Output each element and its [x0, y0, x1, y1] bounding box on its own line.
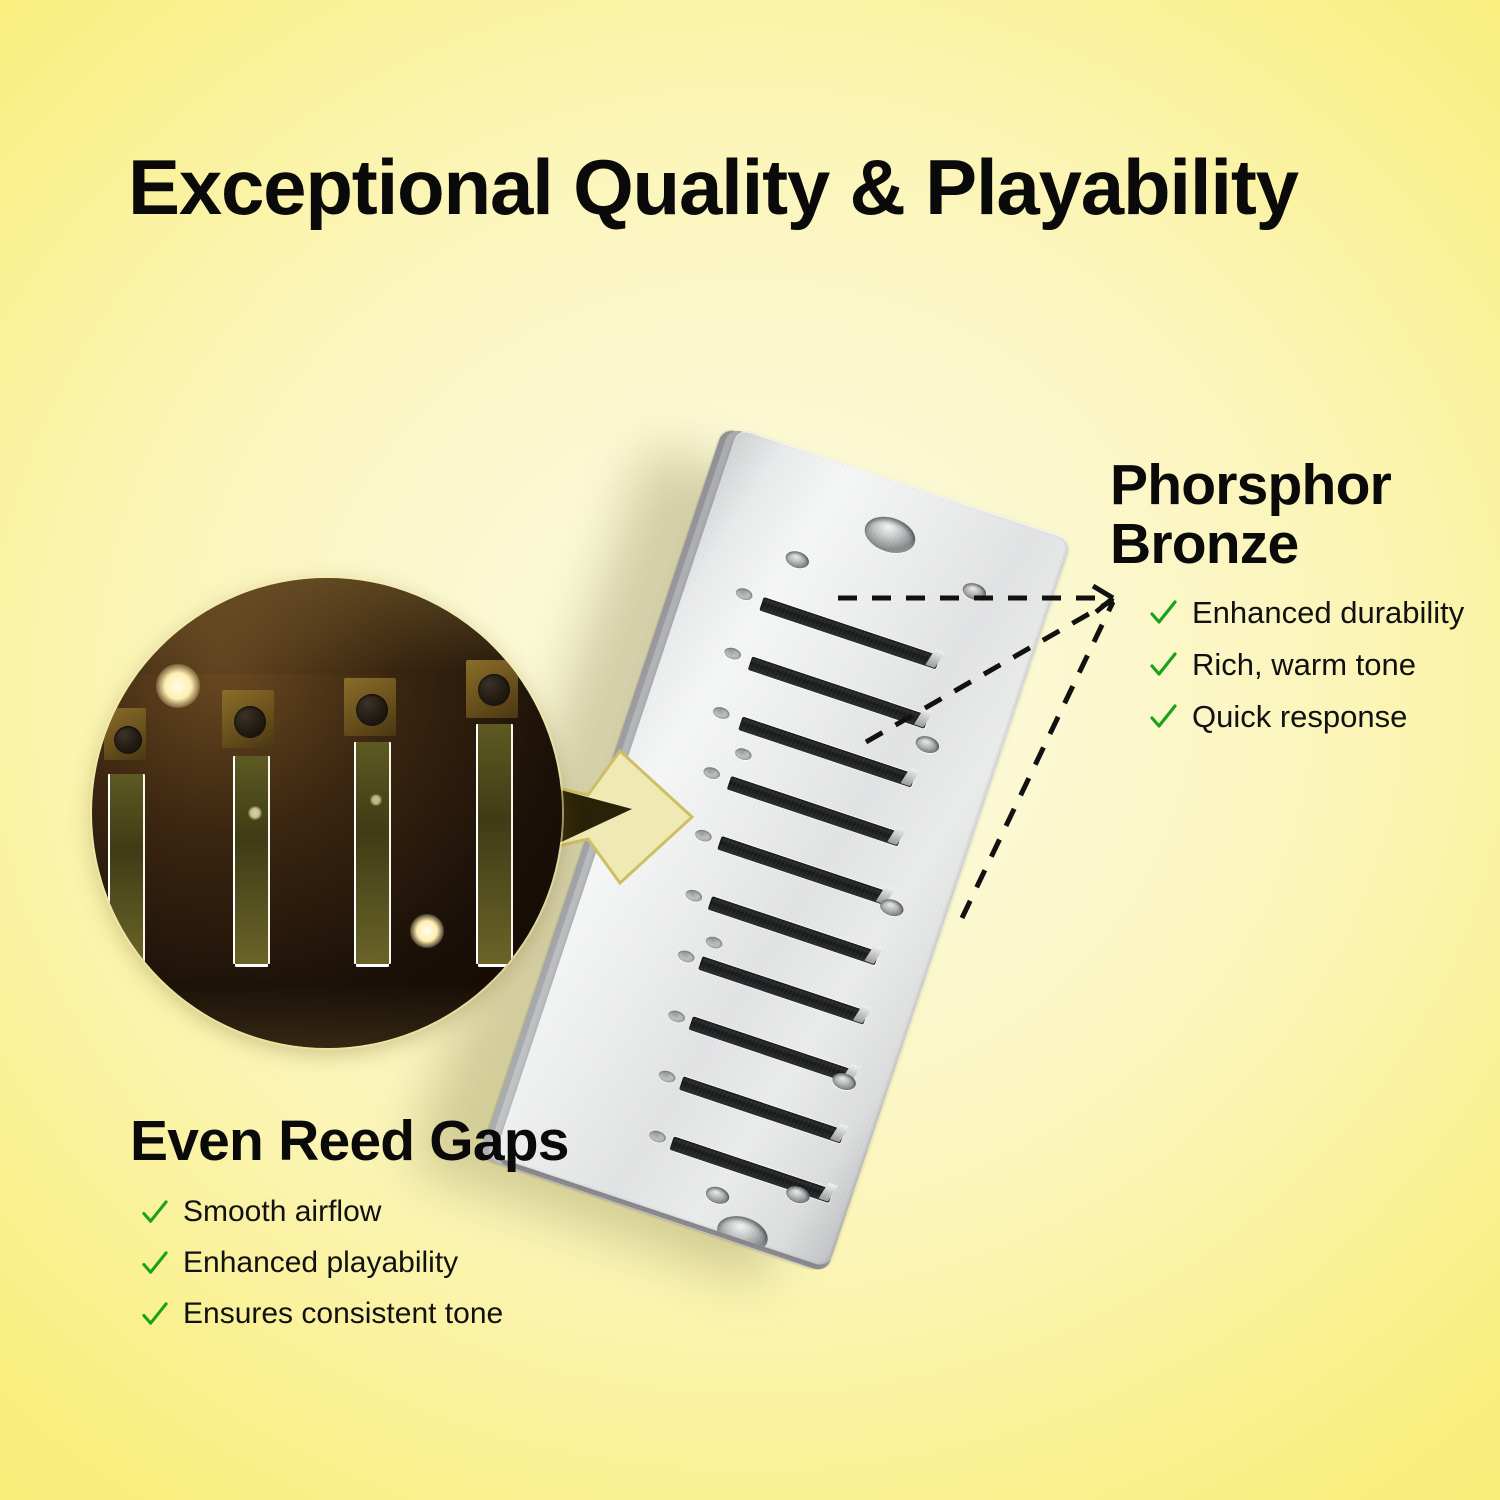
plate-hole-right-mid — [878, 896, 906, 919]
callout-heading-gaps: Even Reed Gaps — [130, 1112, 690, 1171]
reed-slot — [679, 1076, 845, 1143]
magnifier-lens — [92, 578, 562, 1048]
rivet-hole — [711, 705, 731, 721]
closeup-reed-slot — [110, 774, 143, 962]
bullet-label: Rich, warm tone — [1192, 647, 1416, 683]
rivet-hole — [676, 949, 696, 965]
reed-slot — [748, 656, 929, 728]
infographic-canvas: Exceptional Quality & Playability — [0, 0, 1500, 1500]
closeup-highlight — [370, 794, 382, 806]
closeup-highlight — [248, 806, 262, 820]
reed-slot — [708, 896, 879, 965]
callout-phosphor-bronze: Phorsphor Bronze Enhanced durability Ric… — [1110, 456, 1490, 751]
bullet-label: Quick response — [1192, 699, 1407, 735]
closeup-reed-slot — [356, 742, 389, 964]
bullet-label: Enhanced durability — [1192, 595, 1464, 631]
page-title: Exceptional Quality & Playability — [128, 148, 1388, 228]
list-item: Rich, warm tone — [1148, 647, 1490, 683]
list-item: Smooth airflow — [140, 1195, 690, 1229]
bronze-bullet-list: Enhanced durability Rich, warm tone Quic… — [1110, 595, 1490, 735]
callout-heading-bronze: Phorsphor Bronze — [1110, 456, 1490, 575]
rivet-hole — [657, 1069, 677, 1085]
bronze-heading-line2: Bronze — [1110, 512, 1298, 576]
closeup-highlight — [156, 664, 200, 708]
closeup-rivet — [234, 706, 266, 738]
check-icon — [140, 1198, 169, 1227]
rivet-hole — [704, 935, 724, 951]
closeup-bottom-band — [92, 982, 562, 1048]
plate-hole-top-large — [860, 510, 920, 559]
closeup-highlight — [410, 914, 444, 948]
list-item: Ensures consistent tone — [140, 1297, 690, 1331]
bronze-heading-line1: Phorsphor — [1110, 453, 1391, 517]
rivet-hole — [723, 646, 743, 662]
closeup-rivet — [356, 694, 388, 726]
callout-even-reed-gaps: Even Reed Gaps Smooth airflow Enhanced p… — [130, 1112, 690, 1348]
check-icon — [1148, 650, 1178, 680]
rivet-hole — [667, 1009, 687, 1025]
check-icon — [1148, 702, 1178, 732]
bullet-label: Smooth airflow — [183, 1195, 381, 1229]
magnifier-inset — [92, 578, 562, 1048]
check-icon — [140, 1249, 169, 1278]
reed-slot — [698, 956, 867, 1024]
plate-hole-right-upper — [913, 733, 941, 756]
reed-slot — [689, 1016, 857, 1084]
closeup-rivet — [478, 674, 510, 706]
closeup-rivet — [114, 726, 142, 754]
list-item: Enhanced playability — [140, 1246, 690, 1280]
plate-hole-top-right — [960, 580, 988, 603]
bullet-label: Ensures consistent tone — [183, 1297, 503, 1331]
reed-slot — [759, 597, 940, 669]
plate-hole-top-left — [783, 548, 811, 571]
check-icon — [140, 1300, 169, 1329]
closeup-reed-slot — [235, 756, 268, 964]
bullet-label: Enhanced playability — [183, 1246, 458, 1280]
check-icon — [1148, 598, 1178, 628]
list-item: Quick response — [1148, 699, 1490, 735]
plate-hole-bottom-mid — [704, 1184, 732, 1207]
list-item: Enhanced durability — [1148, 595, 1490, 631]
closeup-reed-slot — [478, 724, 511, 964]
rivet-hole — [734, 586, 754, 602]
gaps-bullet-list: Smooth airflow Enhanced playability Ensu… — [130, 1195, 690, 1331]
